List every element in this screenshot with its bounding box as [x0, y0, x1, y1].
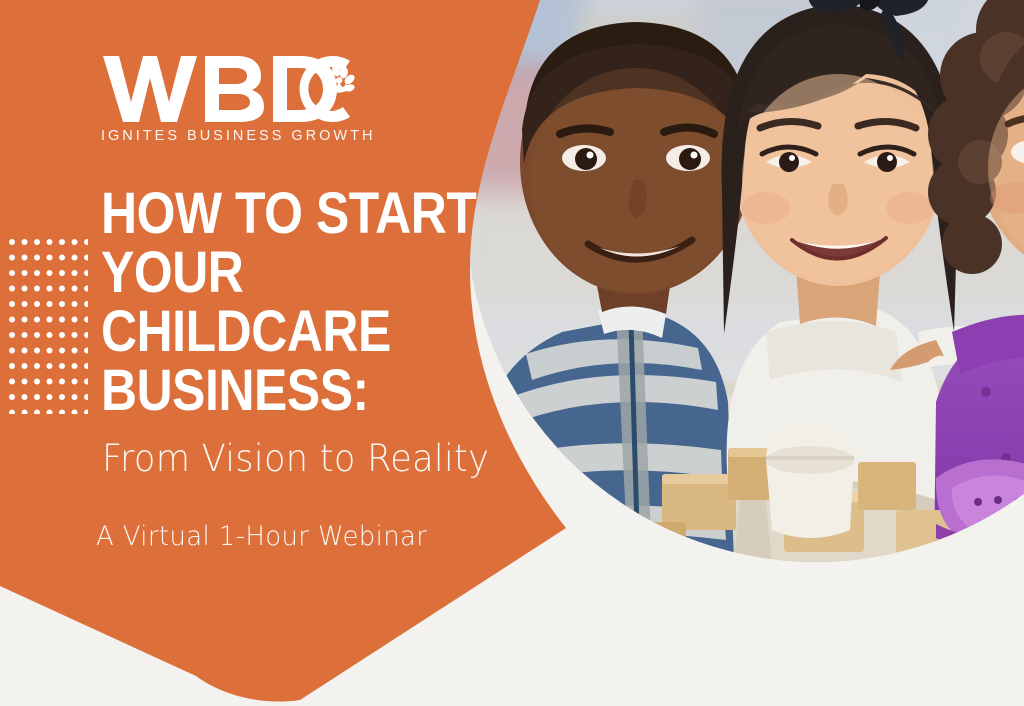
webinar-kicker: A Virtual 1-Hour Webinar — [96, 521, 441, 552]
wbdc-wordmark — [101, 52, 361, 126]
headline-line-2: YOUR — [101, 243, 445, 302]
webinar-kicker-text: A Virtual 1-Hour Webinar — [96, 521, 427, 552]
logo-tagline: IGNITES BUSINESS GROWTH — [101, 128, 361, 144]
subtitle: From Vision to Reality — [102, 437, 510, 480]
wbdc-logo: IGNITES BUSINESS GROWTH — [101, 52, 361, 144]
headline-line-4: BUSINESS: — [101, 361, 445, 420]
promo-canvas: IGNITES BUSINESS GROWTH HOW TO START YOU… — [0, 0, 1024, 706]
headline-line-1: HOW TO START — [101, 184, 445, 243]
headline: HOW TO START YOUR CHILDCARE BUSINESS: — [101, 184, 501, 420]
subtitle-text: From Vision to Reality — [102, 437, 489, 480]
dot-grid-decoration — [8, 238, 84, 408]
headline-line-3: CHILDCARE — [101, 302, 445, 361]
